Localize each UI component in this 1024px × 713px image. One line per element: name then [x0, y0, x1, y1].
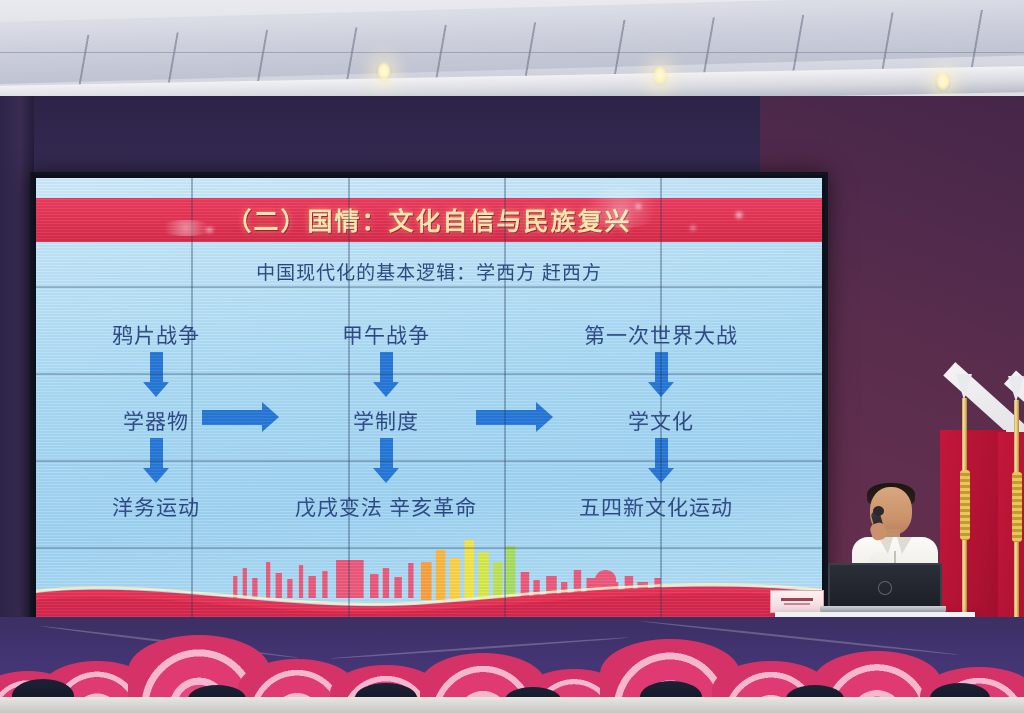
lecture-hall-photo: （二）国情：文化自信与民族复兴 中国现代化的基本逻辑：学西方 赶西方 鸦片战争 …	[0, 0, 1024, 713]
slide-footer-decoration	[36, 532, 822, 624]
banner-sparkle	[636, 204, 641, 209]
movement-cell-1: 洋务运动	[56, 492, 256, 522]
nameplate-text-line	[781, 598, 813, 601]
ceiling-seam	[0, 52, 1024, 53]
banner-sparkle	[736, 212, 742, 218]
slide-title: （二）国情：文化自信与民族复兴	[226, 202, 631, 238]
speaker-nameplate	[770, 590, 824, 613]
panel-seam	[348, 178, 350, 624]
flag-spear-tip-icon	[1008, 376, 1024, 402]
slide-content: 中国现代化的基本逻辑：学西方 赶西方 鸦片战争 甲午战争 第一次世界大战 学器物…	[36, 242, 822, 624]
panel-seam	[36, 547, 822, 549]
movement-cell-3: 五四新文化运动	[516, 492, 796, 522]
panel-seam	[660, 178, 662, 624]
laptop-brand-logo-icon	[878, 581, 892, 595]
banner-sparkle	[691, 226, 695, 230]
microphone-head-icon	[873, 506, 884, 516]
left-pillar	[0, 96, 34, 656]
event-cell-1: 鸦片战争	[56, 320, 256, 350]
panel-seam	[36, 373, 822, 375]
presenter-collar	[897, 537, 912, 554]
ceiling	[0, 0, 1024, 104]
stage-front-rail	[0, 697, 1024, 713]
movement-cell-2: 戊戌变法 辛亥革命	[261, 492, 511, 522]
slide-title-banner: （二）国情：文化自信与民族复兴	[36, 198, 822, 242]
flag-tassel	[1012, 472, 1022, 542]
learning-cell-2: 学制度	[286, 406, 486, 436]
laptop[interactable]	[828, 563, 942, 611]
skyline-wave-graphic	[36, 532, 822, 624]
banner-sparkle	[206, 228, 213, 232]
panel-seam	[36, 460, 822, 462]
event-cell-2: 甲午战争	[286, 320, 486, 350]
flag-tassel	[960, 470, 970, 540]
right-arrow-icon	[202, 402, 279, 432]
slide-subtitle: 中国现代化的基本逻辑：学西方 赶西方	[36, 258, 822, 285]
downlight-icon	[935, 72, 951, 92]
right-arrow-icon	[476, 402, 553, 432]
flag-spear-tip-icon	[956, 374, 972, 400]
nameplate-text-line	[784, 603, 810, 605]
panel-seam	[504, 178, 506, 624]
panel-seam	[36, 286, 822, 288]
downlight-icon	[652, 66, 668, 86]
panel-seam	[191, 178, 193, 624]
slide-surface: （二）国情：文化自信与民族复兴 中国现代化的基本逻辑：学西方 赶西方 鸦片战争 …	[36, 178, 822, 624]
led-video-wall[interactable]: （二）国情：文化自信与民族复兴 中国现代化的基本逻辑：学西方 赶西方 鸦片战争 …	[30, 172, 828, 630]
flag-cloth	[940, 430, 1006, 620]
downlight-icon	[376, 62, 392, 82]
